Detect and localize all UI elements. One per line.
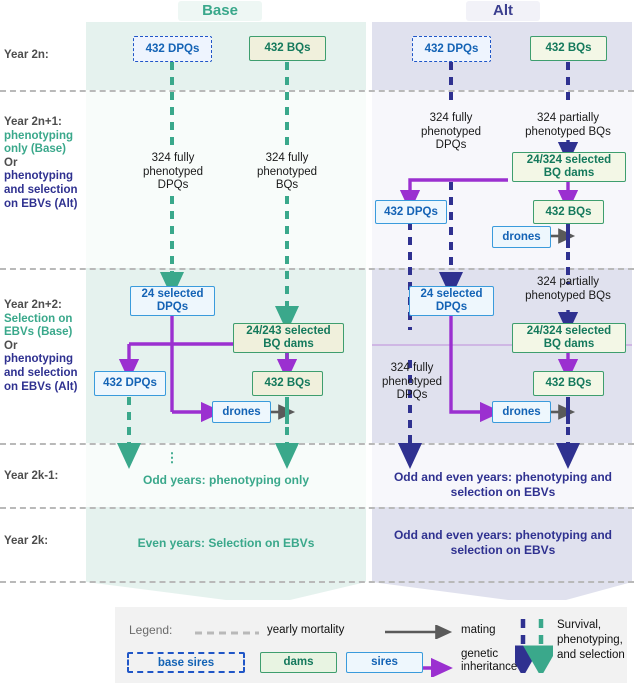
alt-2n2-selected-bq-dams-box[interactable]: 24/324 selectedBQ dams (512, 323, 626, 353)
alt-2n1-dpq-box[interactable]: 432 DPQs (375, 200, 447, 224)
alt-2n-bq-box[interactable]: 432 BQs (530, 36, 607, 61)
alt-2n-dpq-box[interactable]: 432 DPQs (412, 36, 491, 62)
alt-2n2-bq-text: 324 partiallyphenotyped BQs (504, 276, 632, 303)
alt-2n2-dpq-text: 324 fullyphenotypedDPQs (369, 362, 455, 403)
legend-sires-box: sires (346, 652, 423, 673)
yearly-mortality-icon (195, 629, 259, 637)
legend-base-sires-box: base sires (127, 652, 245, 673)
alt-2n1-selected-bq-dams-box[interactable]: 24/324 selectedBQ dams (512, 152, 626, 182)
alt-2n2-drones-box[interactable]: drones (492, 401, 551, 423)
alt-dpq-ellipsis: ⋮ (401, 456, 419, 460)
legend-mating-label: mating (461, 624, 496, 637)
alt-2k-summary: Odd and even years: phenotyping andselec… (378, 528, 628, 558)
alt-2n1-bq-text: 324 partiallyphenotyped BQs (504, 112, 632, 139)
diagram-root: Base Alt Year 2n: Year 2n+1: phenotyping… (0, 0, 634, 685)
alt-2n2-selected-dpqs-box[interactable]: 24 selectedDPQs (409, 286, 494, 316)
alt-2n1-bq-box[interactable]: 432 BQs (533, 200, 604, 224)
legend-genetic-inheritance-label: geneticinheritance (461, 648, 517, 674)
alt-2k-minus-1-summary: Odd and even years: phenotyping andselec… (378, 470, 628, 500)
legend-dams-box: dams (260, 652, 337, 673)
legend-panel: Legend: yearly mortality (115, 607, 627, 683)
alt-2n2-bq-box[interactable]: 432 BQs (533, 371, 604, 396)
mating-arrow-icon (385, 625, 453, 639)
alt-bq-ellipsis: ⋮ (559, 456, 577, 460)
legend-survival-label: Survival,phenotyping,and selection (557, 618, 625, 663)
alt-2n1-dpq-text: 324 fullyphenotypedDPQs (402, 112, 500, 153)
legend-title: Legend: (129, 623, 172, 637)
legend-yearly-mortality-label: yearly mortality (267, 624, 344, 637)
alt-2n1-drones-box[interactable]: drones (492, 226, 551, 248)
survival-dashed-arrows-icon (515, 617, 553, 673)
